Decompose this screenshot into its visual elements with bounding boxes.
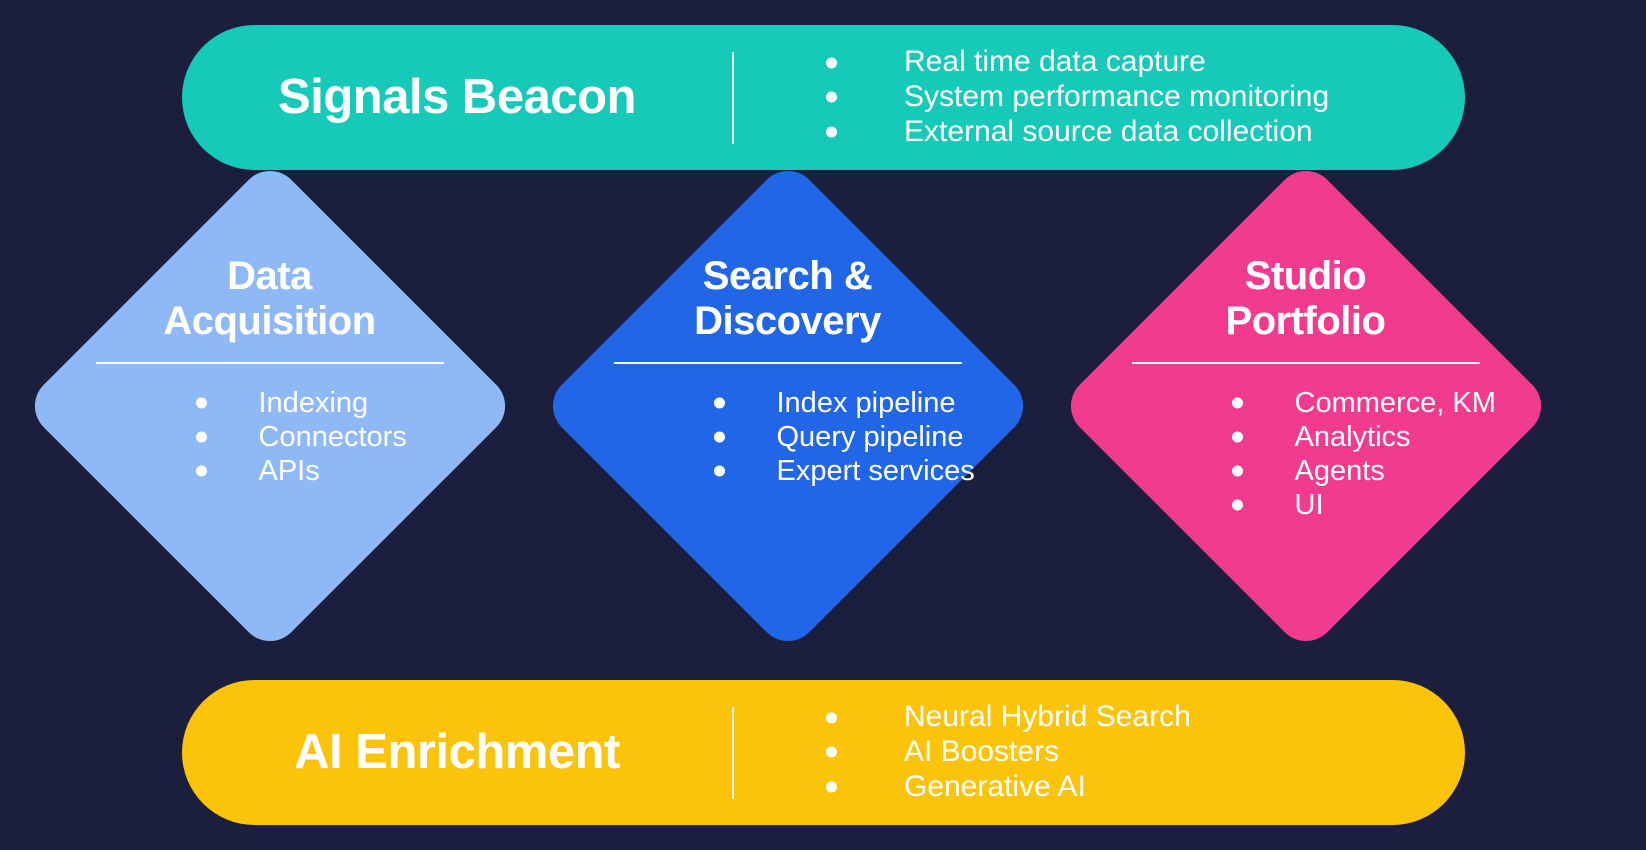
list-item: Generative AI: [826, 770, 1191, 805]
diagram-canvas: Signals Beacon Real time data capture Sy…: [0, 0, 1646, 850]
list-item: AI Boosters: [826, 735, 1191, 770]
signals-beacon-title: Signals Beacon: [182, 72, 722, 123]
list-item: Connectors: [196, 420, 444, 454]
diamond-rule: [614, 362, 962, 364]
studio-portfolio-bullet-list: Commerce, KM Analytics Agents UI: [1132, 386, 1480, 523]
list-item: Query pipeline: [714, 420, 962, 454]
signals-beacon-banner: Signals Beacon Real time data capture Sy…: [182, 25, 1465, 170]
data-acquisition-diamond: Data Acquisition Indexing Connectors API…: [22, 158, 517, 653]
data-acquisition-bullet-list: Indexing Connectors APIs: [96, 386, 444, 489]
list-item: Real time data capture: [826, 45, 1329, 80]
search-discovery-bullet-list: Index pipeline Query pipeline Expert ser…: [614, 386, 962, 489]
list-item: Expert services: [714, 454, 962, 488]
diamond-content: Data Acquisition Indexing Connectors API…: [22, 158, 517, 653]
list-item: System performance monitoring: [826, 80, 1329, 115]
ai-enrichment-banner: AI Enrichment Neural Hybrid Search AI Bo…: [182, 680, 1465, 825]
list-item: Agents: [1232, 454, 1480, 488]
diamond-rule: [1132, 362, 1480, 364]
studio-portfolio-diamond: Studio Portfolio Commerce, KM Analytics …: [1058, 158, 1553, 653]
list-item: Indexing: [196, 386, 444, 420]
studio-portfolio-title: Studio Portfolio: [1226, 254, 1386, 344]
list-item: APIs: [196, 454, 444, 488]
search-discovery-diamond: Search & Discovery Index pipeline Query …: [540, 158, 1035, 653]
diamond-rule: [96, 362, 444, 364]
list-item: Commerce, KM: [1232, 386, 1480, 420]
list-item: External source data collection: [826, 115, 1329, 150]
search-discovery-title: Search & Discovery: [694, 254, 881, 344]
signals-beacon-bullet-list: Real time data capture System performanc…: [734, 45, 1329, 149]
list-item: UI: [1232, 488, 1480, 522]
ai-enrichment-bullet-list: Neural Hybrid Search AI Boosters Generat…: [734, 700, 1191, 804]
list-item: Neural Hybrid Search: [826, 700, 1191, 735]
data-acquisition-title: Data Acquisition: [163, 254, 375, 344]
ai-enrichment-title: AI Enrichment: [182, 727, 722, 778]
diamond-content: Studio Portfolio Commerce, KM Analytics …: [1058, 158, 1553, 653]
diamond-content: Search & Discovery Index pipeline Query …: [540, 158, 1035, 653]
list-item: Index pipeline: [714, 386, 962, 420]
list-item: Analytics: [1232, 420, 1480, 454]
